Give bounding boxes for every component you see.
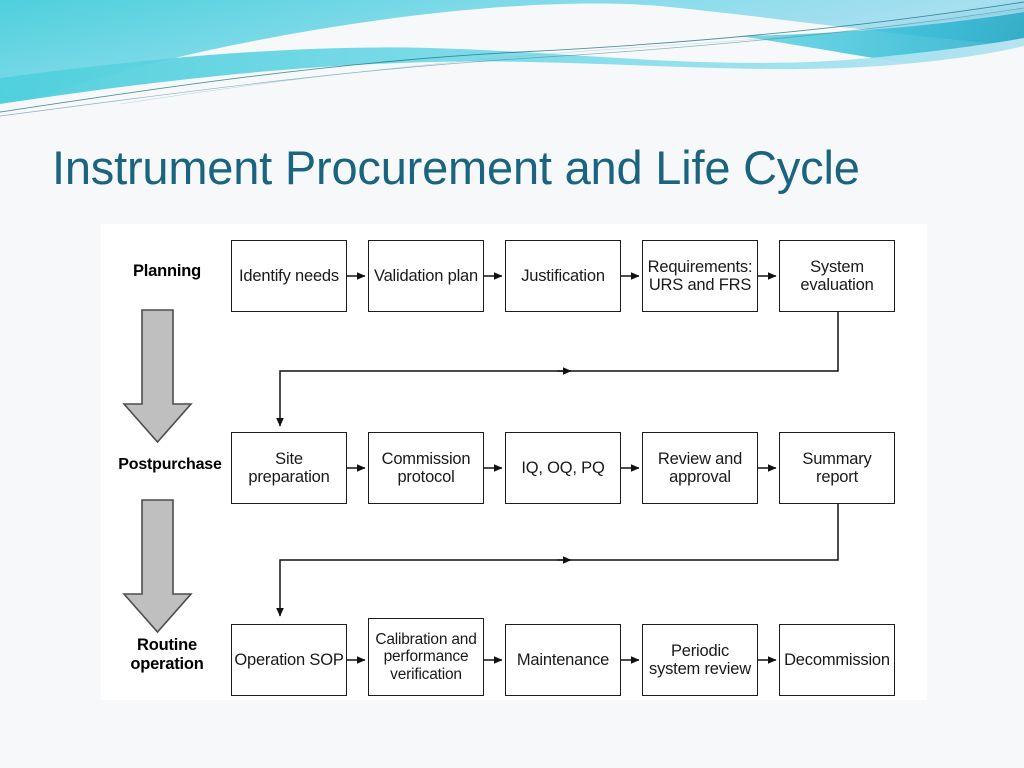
flow-box-system-evaluation-line2: evaluation [800, 276, 873, 294]
stage-label-routine-line2: operation [130, 655, 203, 673]
connector-row2-to-row3 [280, 504, 838, 616]
flow-box-summary-report[interactable]: Summary report [779, 432, 895, 504]
flow-box-iq-oq-pq-line1: IQ, OQ, PQ [521, 459, 604, 477]
flow-box-validation-plan-line1: Validation plan [374, 267, 478, 285]
flow-box-identify-needs-line1: Identify needs [239, 267, 339, 285]
flow-box-site-preparation[interactable]: Site preparation [231, 432, 347, 504]
flow-box-review-and-approval-line2: approval [669, 468, 731, 486]
flow-box-justification[interactable]: Justification [505, 240, 621, 312]
stage-arrow-postpurchase-to-routine [124, 500, 191, 632]
flow-box-calibration-performance-verification[interactable]: Calibration and performance verification [368, 618, 484, 696]
flow-box-review-and-approval[interactable]: Review and approval [642, 432, 758, 504]
flow-box-validation-plan[interactable]: Validation plan [368, 240, 484, 312]
flow-box-system-evaluation-line1: System [810, 258, 864, 276]
flow-box-operation-sop-line1: Operation SOP [234, 651, 343, 669]
flow-box-requirements-line1: Requirements: [648, 258, 753, 276]
flow-box-summary-report-line1: Summary [802, 450, 871, 468]
flow-box-commission-protocol-line2: protocol [397, 468, 454, 486]
header-wave-decoration [0, 0, 1024, 120]
flow-box-periodic-line1: Periodic [671, 642, 729, 660]
flow-box-operation-sop[interactable]: Operation SOP [231, 624, 347, 696]
flow-box-decommission-line1: Decommission [784, 651, 890, 669]
flow-box-site-preparation-line1: Site [275, 450, 303, 468]
flow-box-maintenance-line1: Maintenance [517, 651, 609, 669]
stage-arrow-planning-to-postpurchase [124, 310, 191, 442]
wave-svg [0, 0, 1024, 120]
flow-box-periodic-line2: system review [649, 660, 751, 678]
flow-box-maintenance[interactable]: Maintenance [505, 624, 621, 696]
page-title: Instrument Procurement and Life Cycle [52, 142, 992, 194]
flow-box-system-evaluation[interactable]: System evaluation [779, 240, 895, 312]
stage-label-planning: Planning [107, 262, 227, 281]
flow-box-requirements-urs-frs[interactable]: Requirements: URS and FRS [642, 240, 758, 312]
stage-label-routine: Routine operation [107, 636, 227, 674]
flow-box-commission-protocol[interactable]: Commission protocol [368, 432, 484, 504]
flow-box-decommission[interactable]: Decommission [779, 624, 895, 696]
flow-box-calibration-line2: performance [384, 648, 469, 665]
flow-box-summary-report-line2: report [816, 468, 858, 486]
flow-box-requirements-line2: URS and FRS [649, 276, 751, 294]
flow-box-periodic-system-review[interactable]: Periodic system review [642, 624, 758, 696]
flowchart-panel: Planning Postpurchase Routine operation … [101, 224, 927, 700]
stage-label-routine-line1: Routine [137, 636, 197, 654]
flow-box-calibration-line1: Calibration and [375, 631, 476, 648]
connector-row1-to-row2 [280, 312, 838, 426]
flow-box-identify-needs[interactable]: Identify needs [231, 240, 347, 312]
flow-box-iq-oq-pq[interactable]: IQ, OQ, PQ [505, 432, 621, 504]
stage-label-postpurchase: Postpurchase [95, 456, 245, 474]
flow-box-justification-line1: Justification [521, 267, 605, 285]
flow-box-site-preparation-line2: preparation [248, 468, 329, 486]
flow-box-commission-protocol-line1: Commission [382, 450, 471, 468]
flow-box-review-and-approval-line1: Review and [658, 450, 742, 468]
flow-box-calibration-line3: verification [390, 666, 462, 683]
slide: Instrument Procurement and Life Cycle [0, 0, 1024, 768]
